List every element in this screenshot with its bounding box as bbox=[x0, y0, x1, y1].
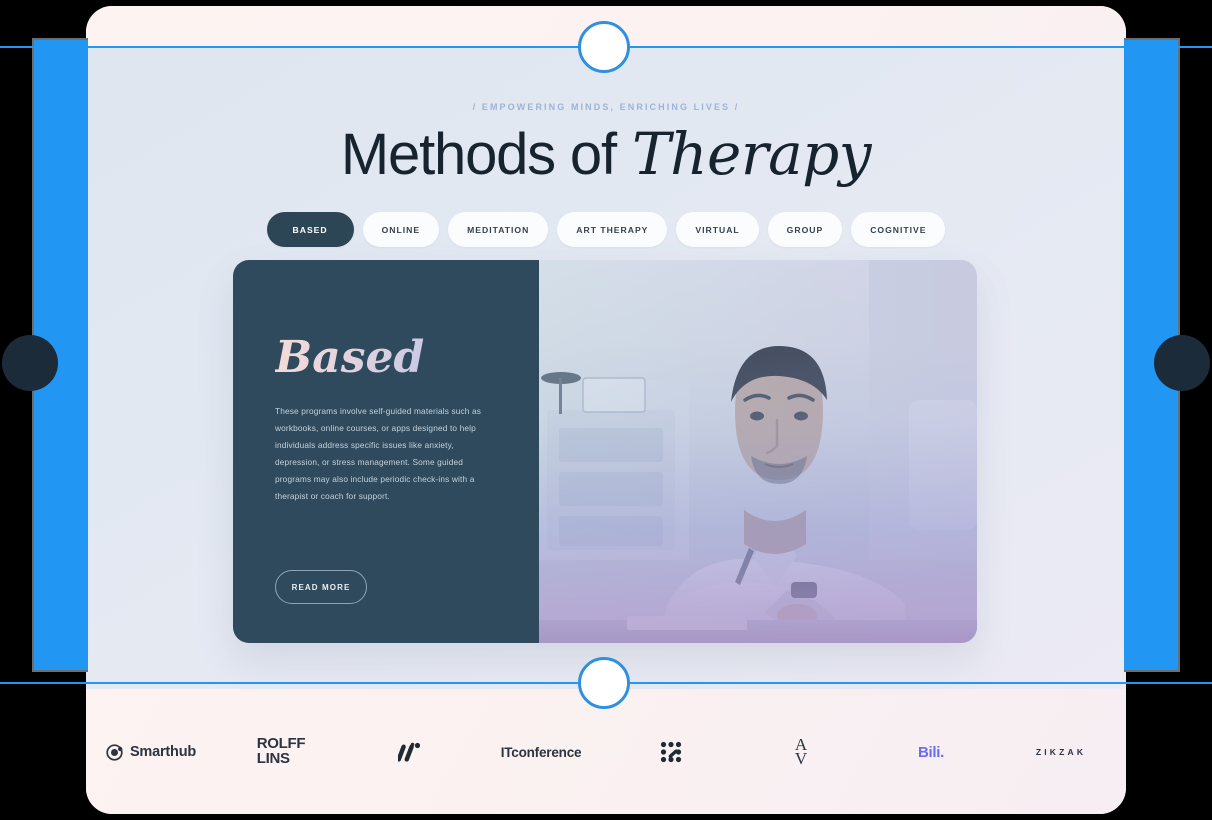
smarthub-icon bbox=[106, 744, 123, 761]
logo-dot-grid[interactable] bbox=[606, 741, 736, 763]
bili-label: Bili. bbox=[918, 744, 944, 761]
category-tabs: BASED ONLINE MEDITATION ART THERAPY VIRT… bbox=[86, 212, 1126, 247]
photo-gradient-overlay bbox=[539, 260, 977, 643]
tab-group[interactable]: GROUP bbox=[768, 212, 843, 247]
rolff-line2: LINS bbox=[257, 752, 306, 767]
showcase-photo bbox=[539, 260, 977, 643]
showcase-card: Based These programs involve self-guided… bbox=[233, 260, 977, 643]
zikzak-label: ZIKZAK bbox=[1036, 747, 1086, 757]
tab-meditation[interactable]: MEDITATION bbox=[448, 212, 548, 247]
av-line2: V bbox=[795, 752, 807, 766]
slash-mark-icon bbox=[398, 741, 424, 763]
logo-bili[interactable]: Bili. bbox=[866, 744, 996, 761]
tab-online[interactable]: ONLINE bbox=[363, 212, 439, 247]
showcase-description: These programs involve self-guided mater… bbox=[275, 403, 500, 505]
dot-grid-icon bbox=[660, 741, 682, 763]
resize-handle-top[interactable] bbox=[578, 21, 630, 73]
resize-handle-right[interactable] bbox=[1154, 335, 1210, 391]
itconference-label: ITconference bbox=[501, 745, 582, 760]
resize-handle-left[interactable] bbox=[2, 335, 58, 391]
screenshot-stage: / EMPOWERING MINDS, ENRICHING LIVES / Me… bbox=[0, 0, 1212, 820]
tab-art-therapy[interactable]: ART THERAPY bbox=[557, 212, 667, 247]
logo-rolff-lins[interactable]: ROLFF LINS bbox=[216, 737, 346, 766]
logo-smarthub[interactable]: Smarthub bbox=[86, 744, 216, 761]
page-title-plain: Methods of bbox=[341, 122, 616, 187]
logo-zikzak[interactable]: ZIKZAK bbox=[996, 747, 1126, 757]
tab-based[interactable]: BASED bbox=[267, 212, 354, 247]
showcase-text-panel: Based These programs involve self-guided… bbox=[233, 260, 539, 643]
smarthub-label: Smarthub bbox=[130, 744, 196, 760]
read-more-button[interactable]: READ MORE bbox=[275, 570, 367, 604]
hero-section: / EMPOWERING MINDS, ENRICHING LIVES / Me… bbox=[86, 48, 1126, 689]
hero-eyebrow: / EMPOWERING MINDS, ENRICHING LIVES / bbox=[86, 102, 1126, 112]
tab-cognitive[interactable]: COGNITIVE bbox=[851, 212, 945, 247]
resize-handle-bottom[interactable] bbox=[578, 657, 630, 709]
showcase-title: Based bbox=[275, 336, 424, 380]
tab-virtual[interactable]: VIRTUAL bbox=[676, 212, 758, 247]
logo-av-mark[interactable]: A V bbox=[736, 738, 866, 766]
page-title: Methods of Therapy bbox=[86, 120, 1126, 189]
logo-slash-mark[interactable] bbox=[346, 741, 476, 763]
logo-itconference[interactable]: ITconference bbox=[476, 745, 606, 760]
page-title-fancy: Therapy bbox=[632, 120, 871, 188]
